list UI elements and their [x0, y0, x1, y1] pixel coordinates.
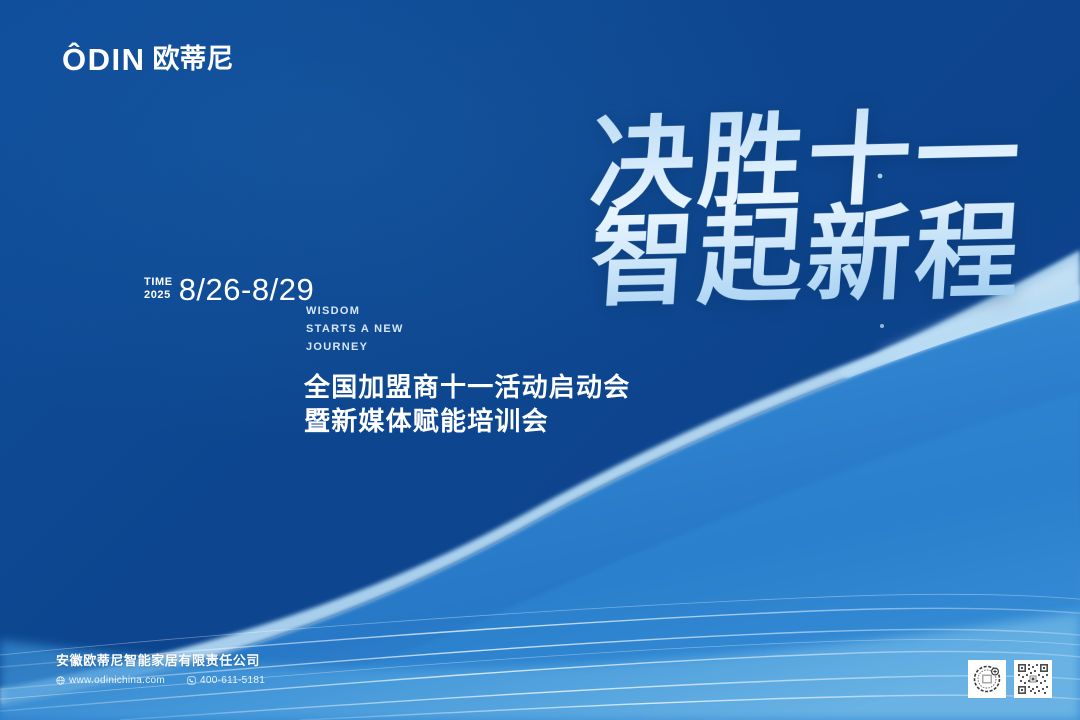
- contact-row: www.odinichina.com 400-611-5181: [56, 675, 265, 686]
- website-item: www.odinichina.com: [56, 675, 165, 686]
- date-range: 8/26-8/29: [179, 274, 315, 305]
- event-subtitle-line-2: 暨新媒体赋能培训会: [304, 404, 630, 438]
- brand-logo: ÔDIN 欧蒂尼: [62, 44, 234, 75]
- event-date: TIME 2025 8/26-8/29: [144, 274, 314, 305]
- date-label: TIME 2025: [144, 276, 173, 303]
- tagline-line-3: JOURNEY: [306, 338, 404, 356]
- english-tagline: WISDOM STARTS A NEW JOURNEY: [306, 302, 404, 356]
- company-name: 安徽欧蒂尼智能家居有限责任公司: [56, 652, 265, 670]
- phone-item: 400-611-5181: [187, 675, 265, 686]
- tagline-line-1: WISDOM: [306, 302, 404, 320]
- mini-program-qr[interactable]: [1014, 660, 1052, 698]
- date-label-year: 2025: [144, 289, 173, 302]
- event-subtitle: 全国加盟商十一活动启动会 暨新媒体赋能培训会: [304, 370, 630, 438]
- logo-latin-wordmark: ÔDIN: [62, 44, 146, 75]
- website-text: www.odinichina.com: [69, 675, 165, 686]
- globe-icon: [56, 676, 65, 685]
- hero-title-line-2: 智起新程: [543, 201, 1026, 311]
- hero-title: 决胜十一 智起新程: [543, 105, 1027, 310]
- wechat-official-account-qr[interactable]: [968, 660, 1006, 698]
- event-subtitle-line-1: 全国加盟商十一活动启动会: [304, 370, 630, 404]
- phone-icon: [187, 676, 196, 685]
- footer-info: 安徽欧蒂尼智能家居有限责任公司 www.odinichina.com: [56, 652, 265, 686]
- phone-text: 400-611-5181: [200, 675, 265, 686]
- tagline-line-2: STARTS A NEW: [306, 320, 404, 338]
- logo-chinese-wordmark: 欧蒂尼: [153, 46, 234, 73]
- qr-code-group: [968, 660, 1052, 698]
- date-label-time: TIME: [144, 276, 173, 289]
- event-poster: ÔDIN 欧蒂尼 决胜十一 智起新程 TIME 2025 8/26-8/29 W…: [0, 0, 1080, 720]
